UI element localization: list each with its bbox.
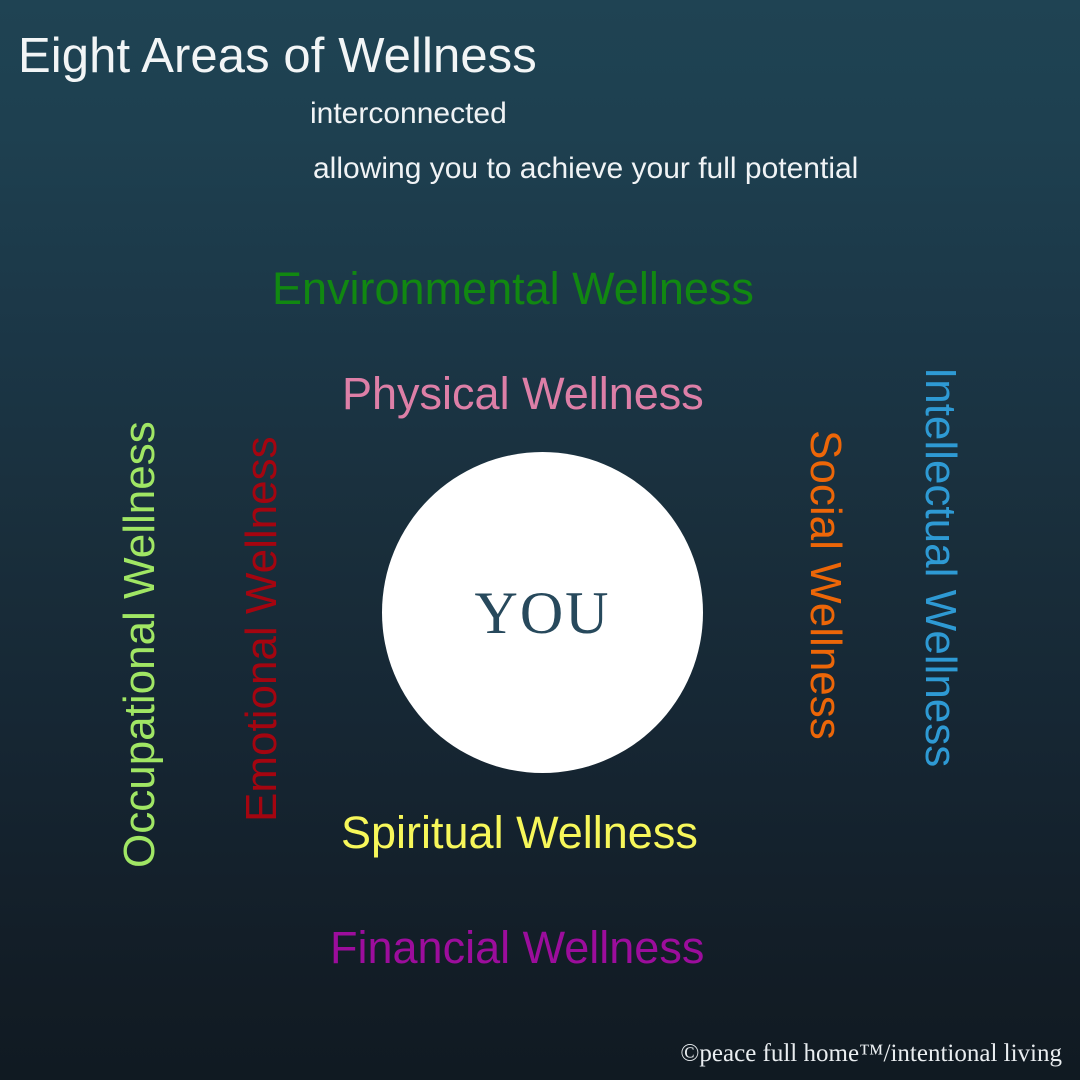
center-circle: YOU <box>382 452 703 773</box>
wellness-label-financial: Financial Wellness <box>330 925 704 970</box>
footer-credit: ©peace full home™/intentional living <box>680 1040 1062 1068</box>
wellness-label-emotional: Emotional Wellness <box>240 436 284 822</box>
wellness-infographic: Eight Areas of Wellness interconnected a… <box>0 0 1080 1080</box>
page-title: Eight Areas of Wellness <box>18 28 537 84</box>
center-label-you: YOU <box>475 583 611 643</box>
wellness-label-spiritual: Spiritual Wellness <box>341 810 698 855</box>
wellness-label-physical: Physical Wellness <box>342 371 704 416</box>
wellness-label-environmental: Environmental Wellness <box>272 266 754 311</box>
wellness-label-intellectual: Intellectual Wellness <box>918 367 962 767</box>
wellness-label-social: Social Wellness <box>803 430 847 740</box>
wellness-label-occupational: Occupational Wellness <box>118 421 162 868</box>
subtitle-full-potential: allowing you to achieve your full potent… <box>313 152 858 186</box>
subtitle-interconnected: interconnected <box>310 97 507 131</box>
